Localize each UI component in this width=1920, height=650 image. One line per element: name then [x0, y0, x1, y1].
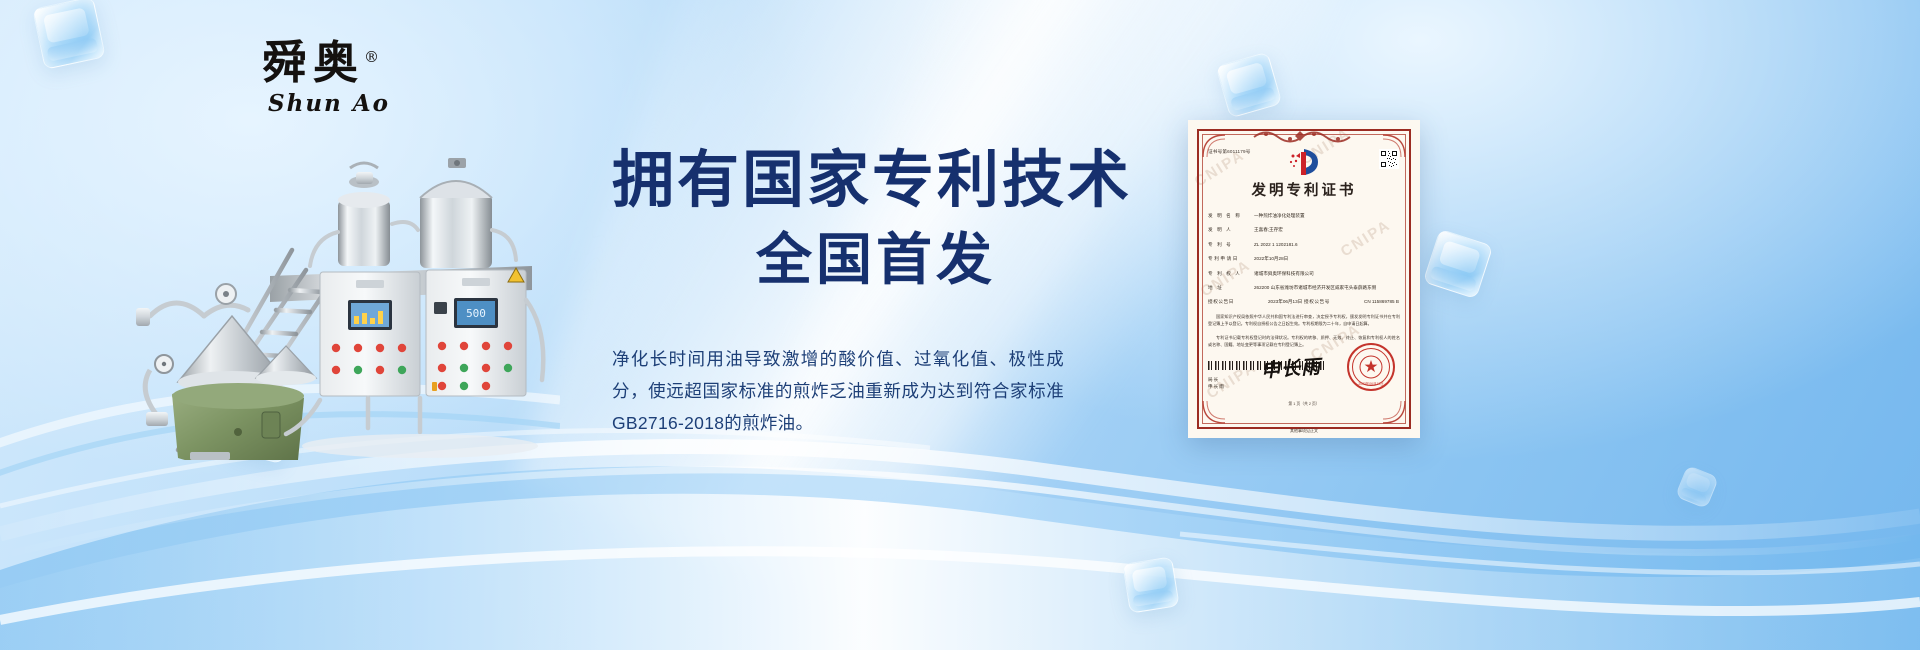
- grant-no-label: 授权公告号: [1304, 299, 1364, 306]
- promo-banner: 舜奥® Shun Ao: [0, 0, 1920, 650]
- field-value: 诸城市舜奥环保科技有限公司: [1254, 271, 1400, 278]
- certificate-page-label: 第 1 页（共 2 页）: [1199, 402, 1409, 407]
- ice-cube-icon: [1122, 556, 1179, 613]
- page-title: 拥有国家专利技术: [612, 148, 1152, 215]
- svg-text:500: 500: [466, 307, 486, 320]
- certificate-field-row: 专利申请日 2022年10月28日: [1208, 256, 1400, 263]
- field-value: 2022年10月28日: [1254, 256, 1400, 263]
- field-label: 地 址: [1208, 285, 1254, 292]
- certificate-field-row: 地 址 262200 山东省潍坊市诸城市经济开发区威家屯头泰薛路东侧: [1208, 285, 1400, 292]
- certificate-footer: 其他事项见正文: [1188, 428, 1420, 434]
- hero-copy: 拥有国家专利技术 全国首发 净化长时间用油导致激增的酸价值、过氧化值、极性成分，…: [612, 148, 1152, 440]
- certificate-ornament: [1244, 129, 1364, 143]
- cnipa-emblem-icon: [1287, 147, 1321, 177]
- page-subtitle: 全国首发: [612, 229, 1152, 291]
- qr-code-icon: [1379, 149, 1399, 169]
- ice-cube-icon: [1216, 52, 1283, 119]
- signature: 申长雨: [1260, 352, 1322, 383]
- field-label: 发 明 名 称: [1208, 213, 1254, 220]
- certificate-field-row: 发 明 名 称 一种煎炸油净化处理装置: [1208, 213, 1400, 220]
- certificate-paragraph-1: 国家知识产权局依照中华人民共和国专利法进行审查，决定授予专利权，颁发发明专利证书…: [1208, 314, 1400, 328]
- ice-cube-icon: [32, 0, 106, 70]
- corner-ornament-tl: [1201, 133, 1227, 159]
- certificate-grant-row: 授权公告日 2023年06月13日 授权公告号 CN 115869785 B: [1208, 299, 1400, 306]
- grant-date-label: 授权公告日: [1208, 299, 1268, 306]
- registered-trademark-icon: ®: [364, 48, 379, 66]
- field-label: 专利申请日: [1208, 256, 1254, 263]
- field-label: 发 明 人: [1208, 227, 1254, 234]
- brand-logo-cn-text: 舜奥: [262, 36, 364, 89]
- ice-cube-icon: [1423, 229, 1494, 300]
- oil-purification-machine-illustration: 500: [120, 120, 640, 460]
- brand-logo: 舜奥® Shun Ao: [262, 40, 432, 117]
- grant-date-value: 2023年06月13日: [1268, 299, 1304, 306]
- official-seal: 2023年06月13日: [1347, 343, 1395, 391]
- field-value: ZL 2022 1 1202181.6: [1254, 242, 1400, 249]
- national-emblem-icon: [1358, 354, 1384, 380]
- field-label: 专 利 权 人: [1208, 271, 1254, 278]
- hero-description: 净化长时间用油导致激增的酸价值、过氧化值、极性成分，使远超国家标准的煎炸乏油重新…: [612, 343, 1064, 440]
- grant-no-value: CN 115869785 B: [1364, 299, 1400, 306]
- brand-logo-cn: 舜奥®: [262, 40, 432, 85]
- patent-certificate: CNIPA CNIPA CNIPA CNIPA CNIPA CNIPA: [1188, 120, 1420, 438]
- certificate-frame: 证书号第6011179号 发明专利证书 发 明 名 称 一种煎炸油净化处理装置 …: [1197, 129, 1411, 429]
- certificate-field-row: 发 明 人 王喜春;王存宏: [1208, 227, 1400, 234]
- brand-logo-en: Shun Ao: [268, 90, 432, 117]
- certificate-field-row: 专 利 权 人 诸城市舜奥环保科技有限公司: [1208, 271, 1400, 278]
- certificate-title: 发明专利证书: [1208, 179, 1400, 200]
- field-value: 一种煎炸油净化处理装置: [1254, 213, 1400, 220]
- field-label: 专 利 号: [1208, 242, 1254, 249]
- seal-date: 2023年06月13日: [1358, 381, 1383, 386]
- field-value: 262200 山东省潍坊市诸城市经济开发区威家屯头泰薛路东侧: [1254, 285, 1400, 292]
- certificate-fields: 发 明 名 称 一种煎炸油净化处理装置 发 明 人 王喜春;王存宏 专 利 号 …: [1208, 213, 1400, 306]
- certificate-field-row: 专 利 号 ZL 2022 1 1202181.6: [1208, 242, 1400, 249]
- ice-cube-icon: [1675, 465, 1719, 509]
- field-value: 王喜春;王存宏: [1254, 227, 1400, 234]
